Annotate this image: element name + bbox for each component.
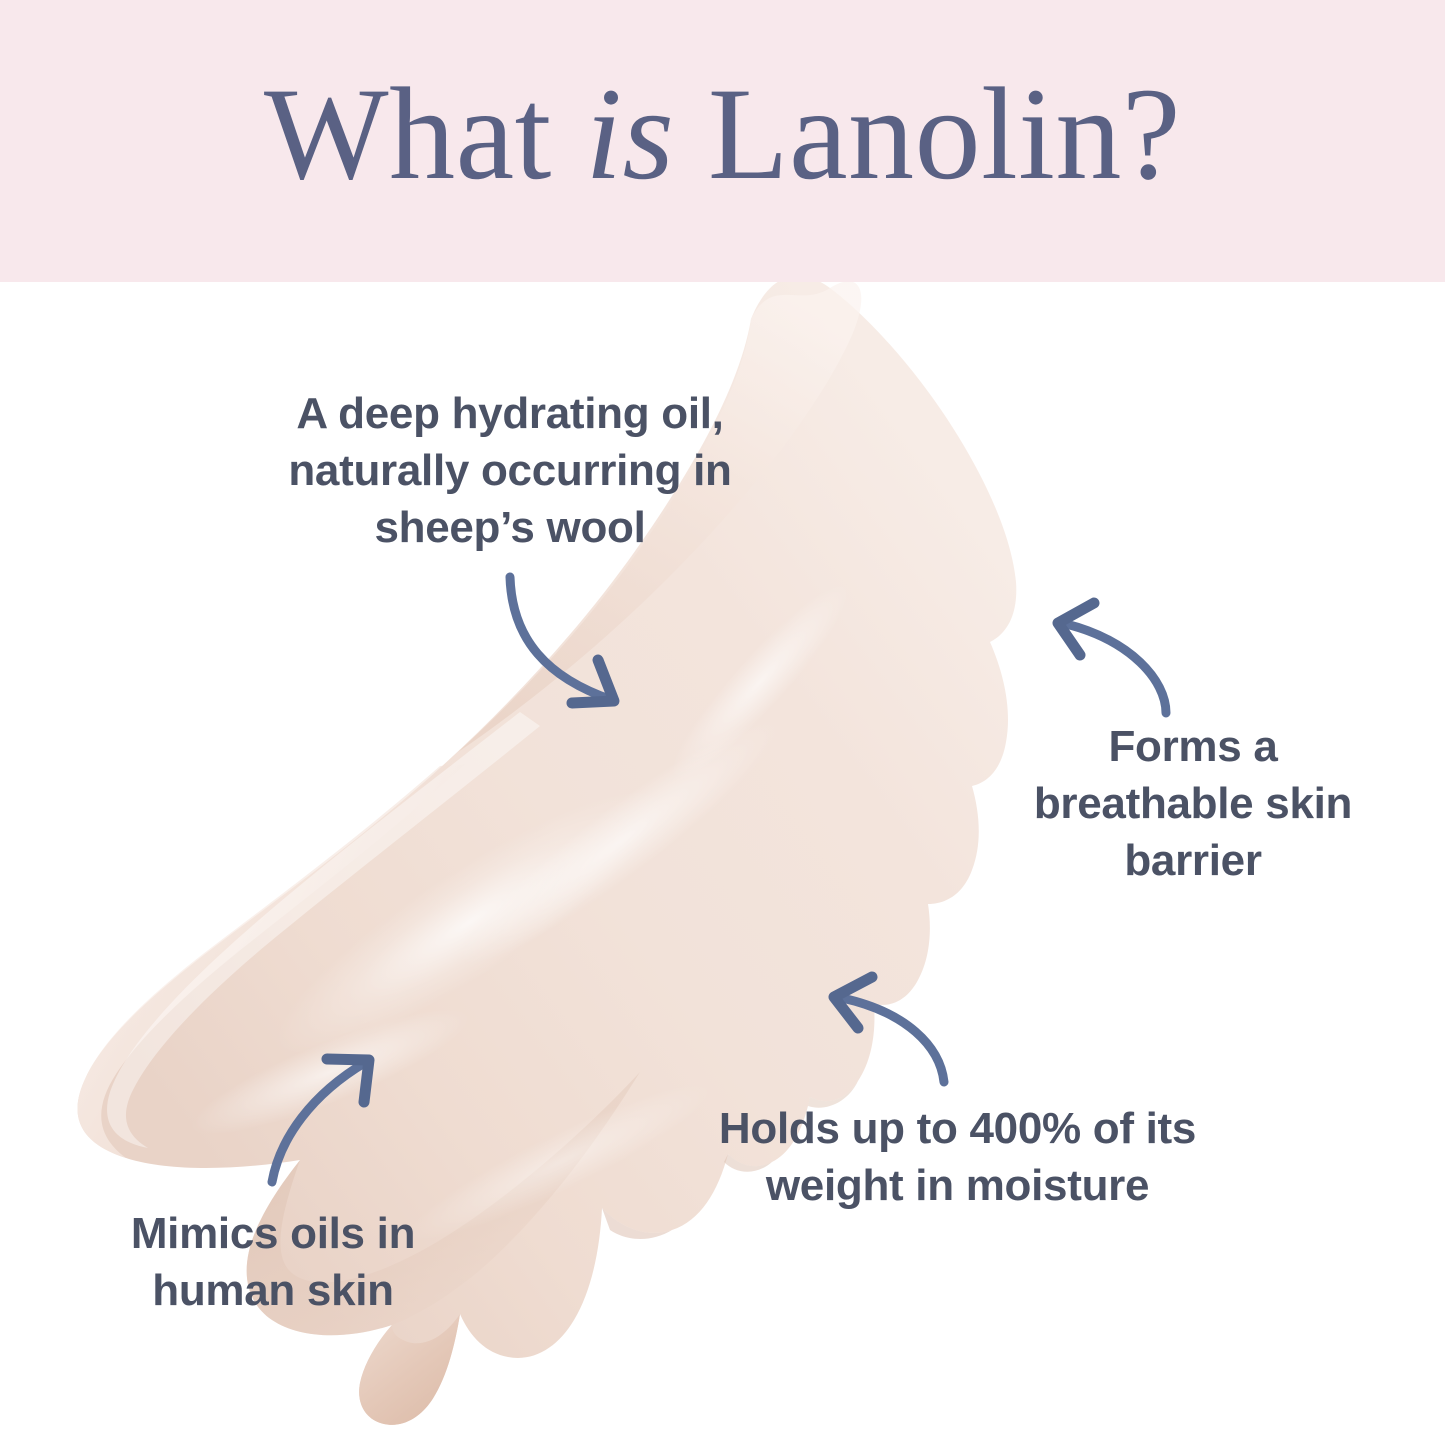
page-title-part-1: What xyxy=(264,60,585,207)
infographic-page: What is Lanolin? xyxy=(0,0,1445,1445)
callout-mimics-skin-oils: Mimics oils in human skin xyxy=(78,1205,468,1319)
callout-hydrating-oil: A deep hydrating oil, naturally occurrin… xyxy=(215,385,805,557)
page-title-emphasis: is xyxy=(585,60,674,207)
page-title: What is Lanolin? xyxy=(264,68,1181,214)
page-title-part-2: Lanolin? xyxy=(674,60,1181,207)
header-band: What is Lanolin? xyxy=(0,0,1445,282)
callout-moisture-400: Holds up to 400% of its weight in moistu… xyxy=(700,1100,1215,1214)
callout-breathable-barrier: Forms a breathable skin barrier xyxy=(1028,718,1358,890)
